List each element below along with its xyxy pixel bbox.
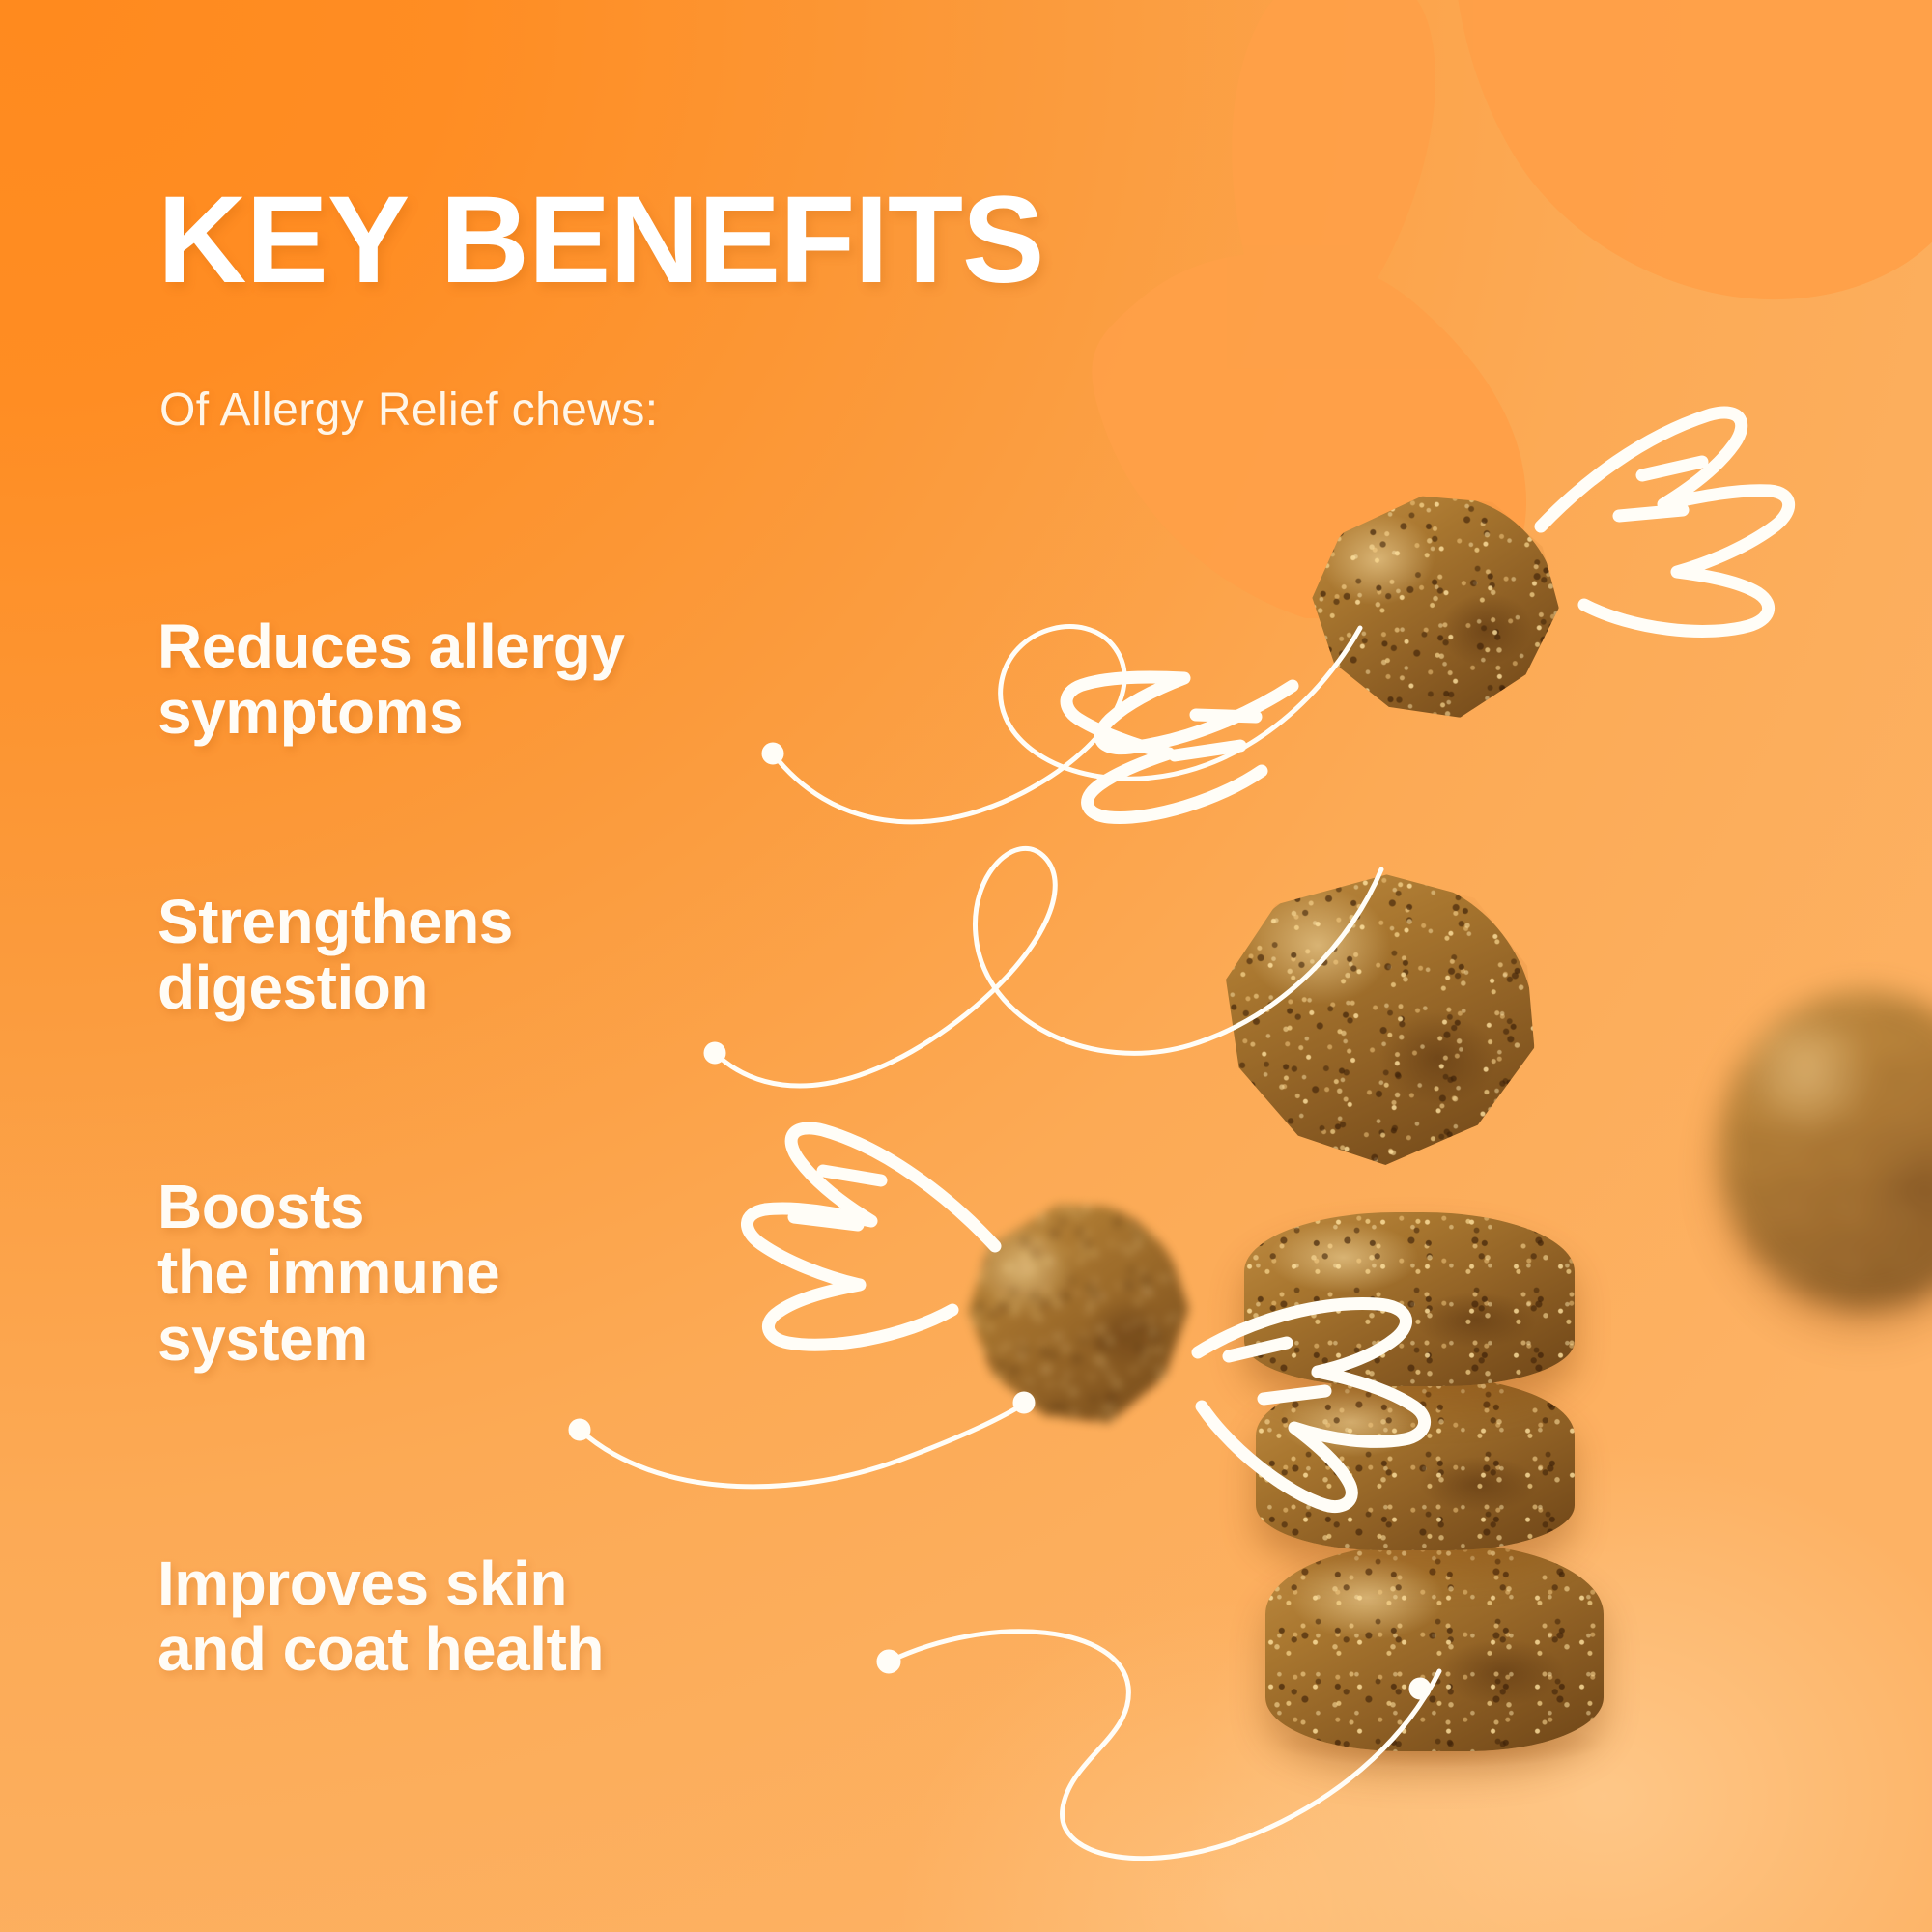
chew-stack-piece-5 [1265,1544,1604,1751]
chew-stack-piece-2 [1207,864,1546,1175]
connector-dot-4b [1409,1678,1431,1699]
wing-left-middle-icon [747,1128,995,1345]
benefit-item-improves-skin-coat: Improves skin and coat health [157,1550,604,1683]
connector-line-1 [773,627,1360,822]
stack-ground-shadow [1212,1710,1666,1777]
chew-stack-piece-3 [1244,1212,1575,1386]
light-sheen [1024,1314,1932,1932]
connector-dot-4 [877,1650,900,1673]
connector-dot-2 [704,1042,725,1064]
benefit-item-reduces-allergy-symptoms: Reduces allergy symptoms [157,613,624,746]
wing-right-middle-icon [1198,1304,1425,1507]
connector-dot-3b [1013,1392,1035,1413]
wing-left-top-icon [1066,677,1293,818]
connector-line-3 [580,1403,1026,1487]
benefit-item-strengthens-digestion: Strengthens digestion [157,889,513,1021]
connector-line-2 [715,848,1381,1086]
connector-dot-1 [762,743,783,764]
page-subtitle: Of Allergy Relief chews: [159,384,658,437]
key-benefits-poster: KEY BENEFITS Of Allergy Relief chews: Re… [0,0,1932,1932]
chew-stack-piece-4 [1256,1377,1575,1550]
page-title: KEY BENEFITS [157,179,1043,302]
blurred-chew-right-icon [1719,990,1932,1309]
connector-dot-3 [569,1419,590,1440]
light-sheen-secondary [753,1468,1719,1932]
paw-print-decoration [1024,0,1932,618]
benefit-item-boosts-immune-system: Boosts the immune system [157,1174,499,1372]
connector-line-4 [889,1632,1439,1859]
flying-chew-middle [949,1185,1207,1444]
